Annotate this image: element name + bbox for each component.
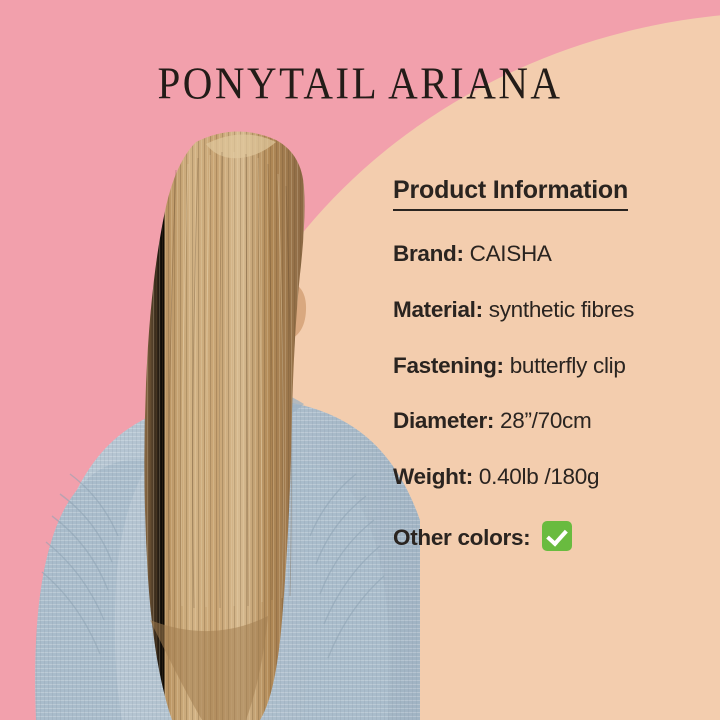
info-row-diameter: Diameter: 28”/70cm: [393, 409, 720, 434]
info-value-weight: 0.40lb /180g: [479, 464, 599, 489]
info-label-other-colors: Other colors:: [393, 525, 530, 550]
info-label-material: Material:: [393, 297, 483, 322]
info-label-weight: Weight:: [393, 464, 473, 489]
info-label-diameter: Diameter:: [393, 408, 494, 433]
info-row-other-colors: Other colors:: [393, 521, 720, 551]
page-title: PONYTAIL ARIANA: [0, 56, 720, 110]
product-information-heading: Product Information: [393, 176, 628, 211]
info-row-fastening: Fastening: butterfly clip: [393, 354, 720, 379]
info-label-fastening: Fastening:: [393, 353, 504, 378]
info-value-material: synthetic fibres: [489, 297, 634, 322]
info-value-diameter: 28”/70cm: [500, 408, 591, 433]
product-info-graphic: PONYTAIL ARIANA Product Information Bran…: [0, 0, 720, 720]
info-row-material: Material: synthetic fibres: [393, 298, 720, 323]
info-label-brand: Brand:: [393, 241, 464, 266]
green-check-icon: [542, 521, 572, 551]
info-value-brand: CAISHA: [470, 241, 552, 266]
info-value-fastening: butterfly clip: [510, 353, 626, 378]
info-row-weight: Weight: 0.40lb /180g: [393, 465, 720, 490]
info-row-brand: Brand: CAISHA: [393, 242, 720, 267]
product-information-panel: Product Information Brand: CAISHA Materi…: [393, 176, 720, 551]
